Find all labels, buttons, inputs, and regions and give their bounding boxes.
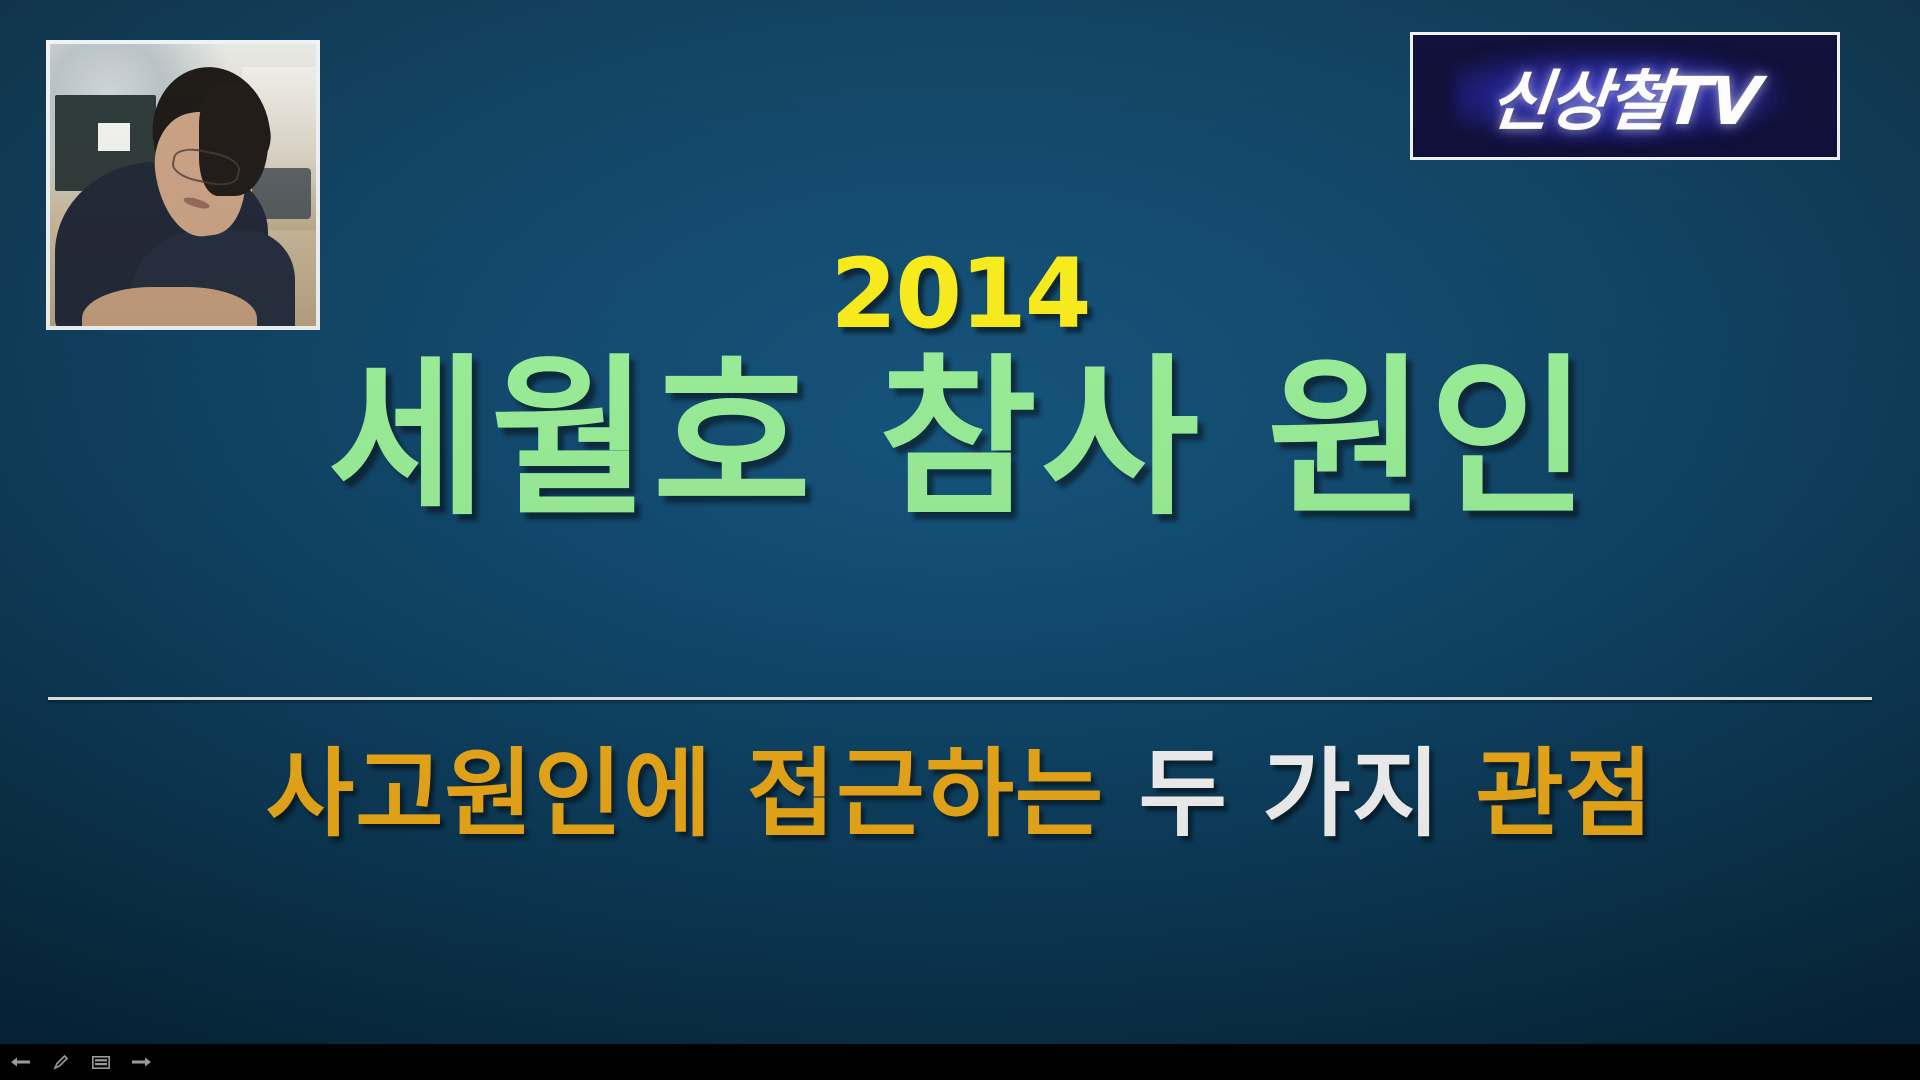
headline-block: 2014 세월호 참사 원인 [0, 246, 1920, 529]
channel-logo: 신상철TV [1410, 32, 1840, 160]
portrait-paper [98, 123, 130, 151]
slides-icon[interactable] [90, 1053, 112, 1071]
headline-year: 2014 [0, 246, 1920, 342]
subtitle-part-2: 두 가지 [1139, 738, 1441, 850]
back-arrow-icon[interactable] [10, 1053, 32, 1071]
slide-canvas: 신상철TV 2014 세월호 참사 원인 사고원인에 접근하는 두 가지 관점 [0, 0, 1920, 1044]
player-toolbar [0, 1044, 1920, 1080]
subtitle-part-3: 관점 [1441, 738, 1654, 850]
forward-arrow-icon[interactable] [130, 1053, 152, 1071]
slide-stage: 신상철TV 2014 세월호 참사 원인 사고원인에 접근하는 두 가지 관점 [0, 0, 1920, 1080]
subtitle-part-1: 사고원인에 접근하는 [266, 738, 1139, 850]
subtitle-block: 사고원인에 접근하는 두 가지 관점 [0, 742, 1920, 848]
pen-icon[interactable] [50, 1053, 72, 1071]
page-title: 세월호 참사 원인 [0, 350, 1920, 529]
horizontal-divider [48, 697, 1872, 700]
channel-logo-text: 신상철TV [1486, 48, 1764, 144]
